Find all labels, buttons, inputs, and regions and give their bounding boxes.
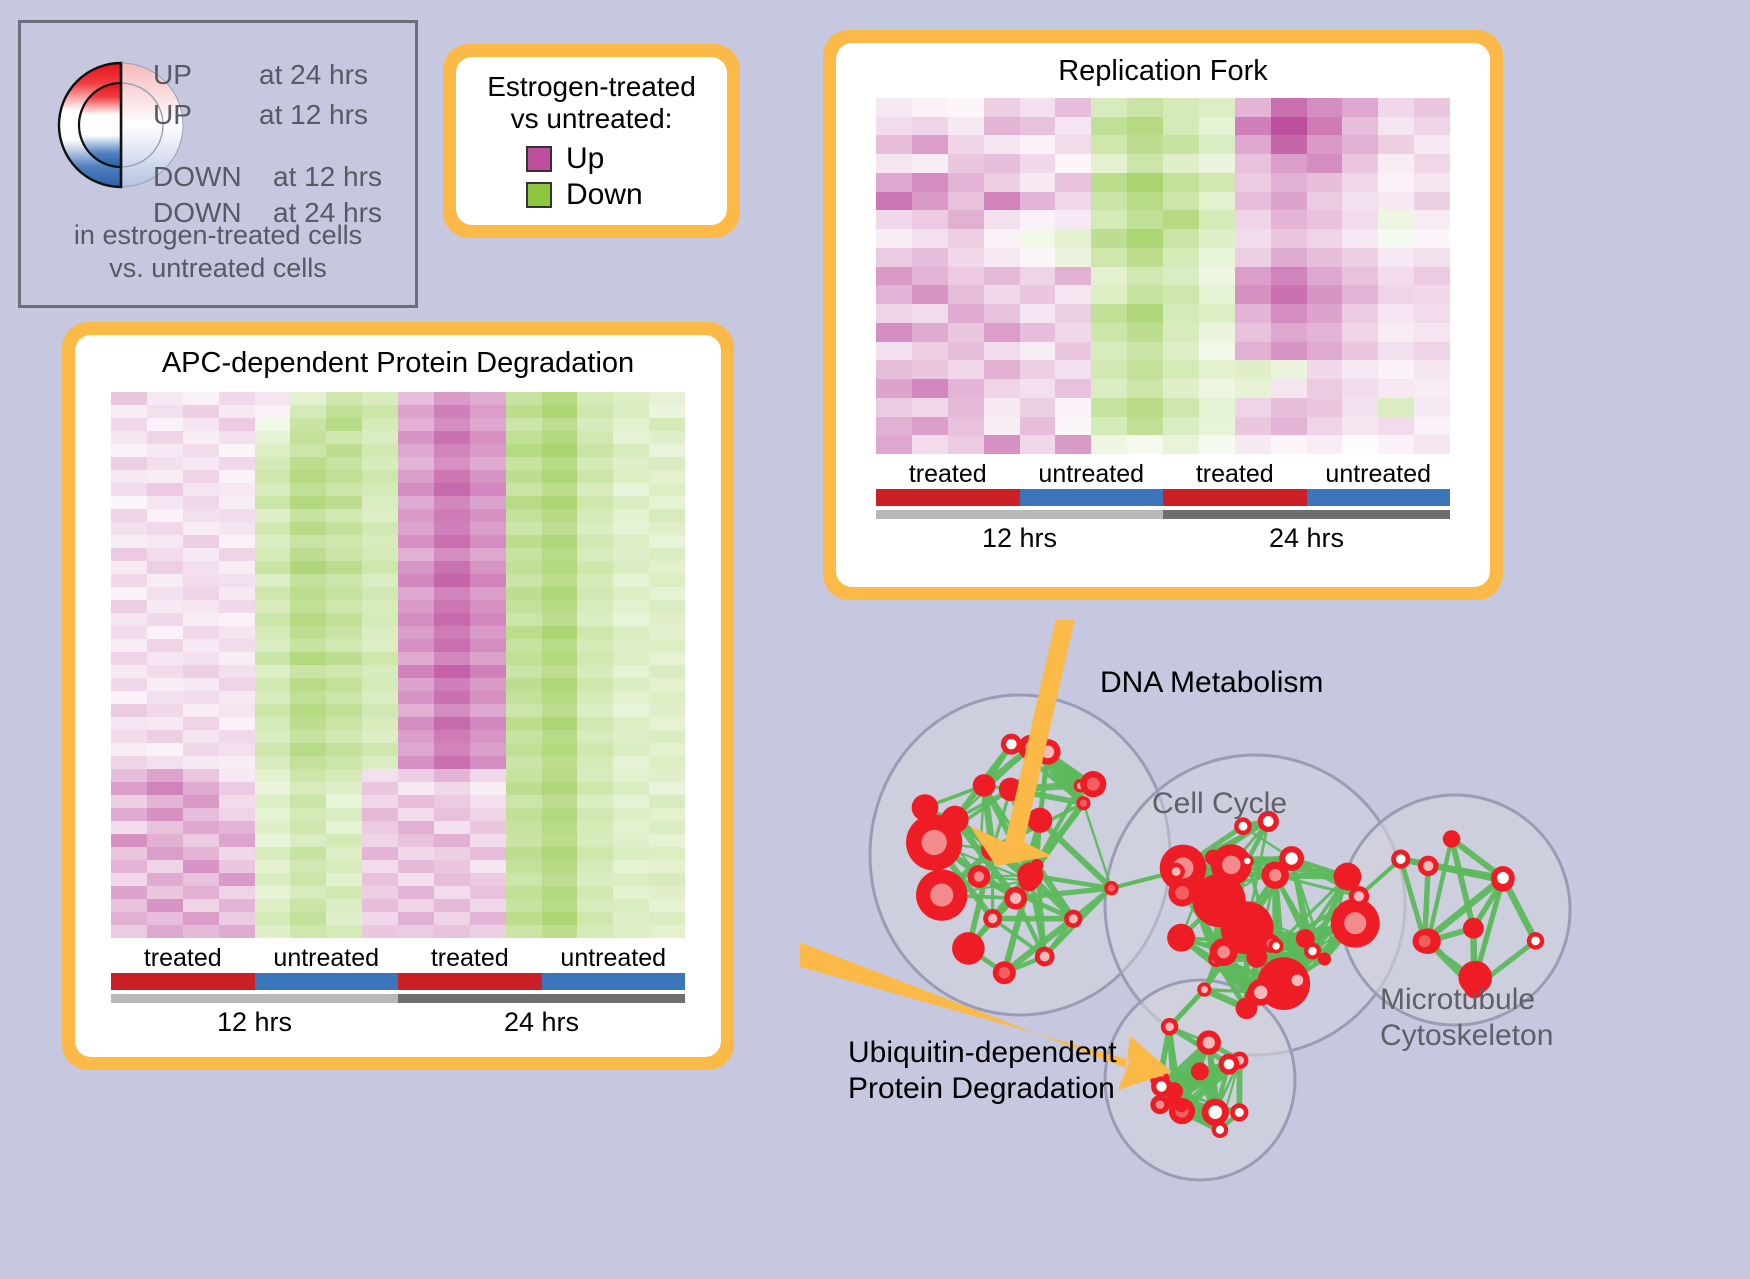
network-node-core — [1175, 886, 1189, 900]
heatmap-cell — [1055, 360, 1091, 379]
heatmap-cell — [398, 743, 434, 756]
heatmap-cell — [613, 405, 649, 418]
heatmap-cell — [1127, 417, 1163, 436]
heatmap-cell — [183, 652, 219, 665]
heatmap-cell — [1271, 248, 1307, 267]
heatmap-cell — [398, 691, 434, 704]
heatmap-cell — [984, 435, 1020, 454]
heatmap-cell — [1378, 285, 1414, 304]
heatmap-cell — [1199, 323, 1235, 342]
network-node — [1031, 859, 1044, 872]
heatmap-cell — [649, 405, 685, 418]
heatmap-cell — [1235, 154, 1271, 173]
heatmap-cell — [147, 665, 183, 678]
heatmap-cell — [290, 821, 326, 834]
heatmap-cell — [470, 691, 506, 704]
heatmap-cell — [219, 418, 255, 431]
heatmap-cell — [984, 210, 1020, 229]
heatmap-cell — [1307, 248, 1343, 267]
heatmap-cell — [577, 704, 613, 717]
heatmap-cell — [255, 600, 291, 613]
heatmap-cell — [326, 665, 362, 678]
heatmap-cell — [1091, 417, 1127, 436]
heatmap-cell — [649, 925, 685, 938]
heatmap-cell — [984, 98, 1020, 117]
network-node-core — [1308, 947, 1317, 956]
heatmap-cell — [1307, 98, 1343, 117]
heatmap-cell — [542, 925, 578, 938]
heatmap-cell — [470, 795, 506, 808]
panel-apc-degradation: APC-dependent Protein Degradation treate… — [62, 322, 734, 1070]
heatmap-cell — [111, 795, 147, 808]
heatmap-cell — [219, 886, 255, 899]
heatmap-cell — [506, 431, 542, 444]
heatmap-cell — [1091, 360, 1127, 379]
heatmap-cell — [398, 821, 434, 834]
heatmap-cell — [649, 418, 685, 431]
time-color-bar-rf — [876, 510, 1450, 519]
heatmap-cell — [876, 285, 912, 304]
heatmap-cell — [506, 639, 542, 652]
wheel-legend-footer: in estrogen-treated cells vs. untreated … — [21, 219, 415, 285]
heatmap-cell — [1235, 285, 1271, 304]
heatmap-cell — [111, 782, 147, 795]
updown-title-line-1: Estrogen-treated — [472, 71, 711, 103]
heatmap-cell — [470, 535, 506, 548]
heatmap-cell — [1378, 342, 1414, 361]
heatmap-cell — [613, 444, 649, 457]
heatmap-cell — [876, 267, 912, 286]
heatmap-cell — [147, 782, 183, 795]
sample-color-bar-rf — [876, 489, 1450, 506]
heatmap-cell — [290, 522, 326, 535]
heatmap-cell — [434, 639, 470, 652]
heatmap-cell — [649, 873, 685, 886]
heatmap-cell — [1414, 173, 1450, 192]
panel-title-apc: APC-dependent Protein Degradation — [111, 347, 685, 380]
heatmap-cell — [948, 342, 984, 361]
heatmap-cell — [290, 418, 326, 431]
heatmap-cell — [649, 600, 685, 613]
heatmap-cell — [398, 834, 434, 847]
heatmap-cell — [1055, 154, 1091, 173]
heatmap-cell — [147, 912, 183, 925]
heatmap-cell — [398, 678, 434, 691]
heatmap-cell — [434, 548, 470, 561]
heatmap-cell — [506, 509, 542, 522]
heatmap-cell — [111, 405, 147, 418]
heatmap-cell — [1378, 192, 1414, 211]
heatmap-cell — [183, 873, 219, 886]
heatmap-cell — [649, 496, 685, 509]
heatmap-cell — [876, 248, 912, 267]
heatmap-cell — [1020, 398, 1056, 417]
heatmap-cell — [1378, 154, 1414, 173]
heatmap-cell — [326, 587, 362, 600]
heatmap-cell — [434, 743, 470, 756]
heatmap-cell — [613, 587, 649, 600]
heatmap-cell — [111, 652, 147, 665]
wheel-tag-up-12: UP — [153, 99, 192, 131]
heatmap-cell — [1307, 417, 1343, 436]
heatmap-cell — [434, 782, 470, 795]
heatmap-cell — [147, 717, 183, 730]
heatmap-cell — [1163, 117, 1199, 136]
heatmap-cell — [1378, 379, 1414, 398]
network-node-core — [922, 830, 947, 855]
heatmap-cell — [876, 360, 912, 379]
heatmap-cell — [649, 912, 685, 925]
heatmap-cell — [1127, 360, 1163, 379]
heatmap-cell — [506, 561, 542, 574]
sample-bar-segment — [255, 973, 399, 990]
heatmap-cell — [290, 795, 326, 808]
heatmap-cell — [255, 743, 291, 756]
heatmap-cell — [577, 665, 613, 678]
heatmap-cell — [183, 847, 219, 860]
heatmap-cell — [434, 418, 470, 431]
heatmap-cell — [326, 574, 362, 587]
network-node — [1443, 830, 1460, 847]
heatmap-cell — [183, 444, 219, 457]
heatmap-cell — [255, 587, 291, 600]
heatmap-cell — [984, 323, 1020, 342]
sample-color-bar-apc — [111, 973, 685, 990]
heatmap-cell — [1127, 117, 1163, 136]
heatmap-cell — [1199, 267, 1235, 286]
heatmap-cell — [111, 639, 147, 652]
heatmap-cell — [984, 192, 1020, 211]
heatmap-cell — [1163, 154, 1199, 173]
heatmap-cell — [470, 756, 506, 769]
heatmap-cell — [542, 665, 578, 678]
network-node — [912, 794, 939, 821]
cluster-label-ubiquitin: Ubiquitin-dependent Protein Degradation — [848, 1035, 1117, 1107]
sample-bar-segment — [111, 973, 255, 990]
heatmap-cell — [470, 769, 506, 782]
network-node-core — [1156, 1100, 1165, 1109]
heatmap-cell — [1020, 267, 1056, 286]
heatmap-cell — [876, 379, 912, 398]
heatmap-cell — [111, 431, 147, 444]
heatmap-cell — [398, 795, 434, 808]
heatmap-cell — [613, 795, 649, 808]
heatmap-cell — [948, 398, 984, 417]
heatmap-cell — [362, 834, 398, 847]
heatmap-cell — [1163, 304, 1199, 323]
heatmap-cell — [398, 912, 434, 925]
heatmap-cell — [1342, 417, 1378, 436]
heatmap-cell — [1127, 398, 1163, 417]
heatmap-cell — [1091, 285, 1127, 304]
heatmap-cell — [219, 613, 255, 626]
network-node-core — [1224, 1059, 1234, 1069]
heatmap-cell — [1378, 323, 1414, 342]
heatmap-cell — [219, 847, 255, 860]
heatmap-cell — [255, 717, 291, 730]
heatmap-cell — [876, 173, 912, 192]
heatmap-cell — [219, 717, 255, 730]
heatmap-cell — [577, 769, 613, 782]
heatmap-cell — [948, 323, 984, 342]
heatmap-cell — [362, 782, 398, 795]
wheel-text-up-24: at 24 hrs — [259, 59, 368, 91]
heatmap-cell — [183, 626, 219, 639]
heatmap-cell — [1342, 285, 1378, 304]
heatmap-cell — [1378, 417, 1414, 436]
heatmap-cell — [183, 418, 219, 431]
heatmap-cell — [219, 821, 255, 834]
heatmap-cell — [1199, 192, 1235, 211]
heatmap-cell — [398, 808, 434, 821]
heatmap-cell — [506, 652, 542, 665]
heatmap-cell — [255, 808, 291, 821]
heatmap-cell — [613, 496, 649, 509]
heatmap-cell — [434, 574, 470, 587]
heatmap-cell — [290, 587, 326, 600]
heatmap-cell — [470, 860, 506, 873]
heatmap-cell — [506, 457, 542, 470]
heatmap-cell — [111, 509, 147, 522]
heatmap-cell — [398, 886, 434, 899]
heatmap-cell — [542, 522, 578, 535]
network-node-core — [999, 967, 1011, 979]
heatmap-cell — [255, 860, 291, 873]
heatmap-cell — [147, 808, 183, 821]
heatmap-cell — [290, 743, 326, 756]
heatmap-cell — [1091, 342, 1127, 361]
heatmap-cell — [255, 678, 291, 691]
network-node-core — [988, 914, 997, 923]
heatmap-cell — [506, 821, 542, 834]
heatmap-cell — [290, 860, 326, 873]
heatmap-cell — [290, 457, 326, 470]
heatmap-cell — [1235, 192, 1271, 211]
heatmap-cell — [398, 717, 434, 730]
heatmap-cell — [912, 192, 948, 211]
heatmap-cell — [542, 457, 578, 470]
heatmap-cell — [147, 743, 183, 756]
heatmap-cell — [1414, 117, 1450, 136]
sample-label-rf-2: treated — [1163, 460, 1307, 489]
heatmap-cell — [398, 405, 434, 418]
heatmap-cell — [398, 899, 434, 912]
heatmap-cell — [1307, 267, 1343, 286]
heatmap-cell — [255, 730, 291, 743]
heatmap-cell — [290, 925, 326, 938]
heatmap-cell — [326, 626, 362, 639]
heatmap-cell — [183, 496, 219, 509]
heatmap-cell — [613, 522, 649, 535]
heatmap-cell — [506, 899, 542, 912]
heatmap-cell — [470, 899, 506, 912]
heatmap-cell — [1055, 379, 1091, 398]
heatmap-cell — [290, 535, 326, 548]
heatmap-cell — [362, 808, 398, 821]
heatmap-cell — [290, 574, 326, 587]
heatmap-cell — [613, 613, 649, 626]
heatmap-cell — [1055, 342, 1091, 361]
network-node — [1246, 947, 1267, 968]
heatmap-cell — [1199, 173, 1235, 192]
ubiquitin-line-1: Ubiquitin-dependent — [848, 1035, 1117, 1071]
heatmap-cell — [470, 431, 506, 444]
heatmap-cell — [912, 323, 948, 342]
heatmap-cell — [219, 431, 255, 444]
heatmap-cell — [649, 730, 685, 743]
heatmap-cell — [876, 98, 912, 117]
heatmap-cell — [506, 886, 542, 899]
heatmap-cell — [1020, 360, 1056, 379]
heatmap-cell — [649, 457, 685, 470]
heatmap-cell — [255, 548, 291, 561]
heatmap-cell — [398, 574, 434, 587]
sample-label-rf-3: untreated — [1307, 460, 1451, 489]
heatmap-cell — [219, 574, 255, 587]
heatmap-cell — [470, 743, 506, 756]
heatmap-cell — [183, 743, 219, 756]
time-color-bar-apc — [111, 994, 685, 1003]
heatmap-cell — [111, 587, 147, 600]
heatmap-cell — [326, 730, 362, 743]
heatmap-cell — [1127, 267, 1163, 286]
heatmap-cell — [613, 821, 649, 834]
heatmap-cell — [1127, 435, 1163, 454]
heatmap-cell — [1020, 210, 1056, 229]
heatmap-cell — [912, 417, 948, 436]
sample-bar-segment — [398, 973, 542, 990]
network-node-core — [1269, 869, 1281, 881]
heatmap-cell — [183, 769, 219, 782]
heatmap-cell — [147, 847, 183, 860]
heatmap-cell — [111, 899, 147, 912]
heatmap-cell — [183, 730, 219, 743]
heatmap-cell — [362, 704, 398, 717]
heatmap-cell — [398, 418, 434, 431]
heatmap-cell — [362, 600, 398, 613]
heatmap-cell — [147, 704, 183, 717]
network-node-core — [1080, 800, 1087, 807]
heatmap-cell — [398, 392, 434, 405]
heatmap-cell — [1091, 117, 1127, 136]
heatmap-cell — [1091, 192, 1127, 211]
heatmap-cell — [398, 561, 434, 574]
heatmap-cell — [111, 535, 147, 548]
heatmap-cell — [577, 821, 613, 834]
heatmap-cell — [255, 886, 291, 899]
heatmap-cell — [1378, 210, 1414, 229]
legend-label-down: Down — [566, 178, 643, 212]
sample-label-rf-1: untreated — [1020, 460, 1164, 489]
heatmap-replication-fork — [876, 98, 1450, 454]
heatmap-cell — [219, 756, 255, 769]
heatmap-cell — [434, 561, 470, 574]
heatmap-cell — [948, 285, 984, 304]
heatmap-cell — [183, 704, 219, 717]
heatmap-cell — [183, 574, 219, 587]
heatmap-cell — [876, 435, 912, 454]
heatmap-cell — [876, 154, 912, 173]
heatmap-cell — [434, 834, 470, 847]
heatmap-cell — [1091, 379, 1127, 398]
heatmap-cell — [183, 431, 219, 444]
heatmap-cell — [506, 418, 542, 431]
heatmap-cell — [542, 808, 578, 821]
heatmap-cell — [1127, 229, 1163, 248]
heatmap-cell — [506, 483, 542, 496]
heatmap-cell — [183, 405, 219, 418]
heatmap-cell — [1055, 117, 1091, 136]
heatmap-cell — [1163, 229, 1199, 248]
heatmap-cell — [326, 834, 362, 847]
heatmap-cell — [1235, 398, 1271, 417]
heatmap-cell — [577, 626, 613, 639]
heatmap-cell — [1163, 267, 1199, 286]
heatmap-cell — [948, 248, 984, 267]
heatmap-cell — [506, 730, 542, 743]
sample-label-rf-0: treated — [876, 460, 1020, 489]
heatmap-cell — [219, 405, 255, 418]
heatmap-cell — [876, 323, 912, 342]
heatmap-cell — [398, 730, 434, 743]
heatmap-cell — [542, 886, 578, 899]
sample-labels-apc: treated untreated treated untreated — [111, 944, 685, 973]
heatmap-cell — [290, 886, 326, 899]
heatmap-cell — [111, 626, 147, 639]
ubiquitin-line-2: Protein Degradation — [848, 1071, 1117, 1107]
heatmap-cell — [542, 704, 578, 717]
heatmap-cell — [255, 405, 291, 418]
heatmap-cell — [470, 652, 506, 665]
heatmap-cell — [147, 639, 183, 652]
heatmap-cell — [290, 626, 326, 639]
heatmap-cell — [1342, 360, 1378, 379]
heatmap-cell — [290, 470, 326, 483]
heatmap-cell — [1091, 398, 1127, 417]
heatmap-cell — [542, 678, 578, 691]
heatmap-cell — [470, 704, 506, 717]
heatmap-cell — [290, 548, 326, 561]
heatmap-cell — [1378, 248, 1414, 267]
heatmap-cell — [290, 691, 326, 704]
heatmap-cell — [398, 626, 434, 639]
heatmap-cell — [1378, 267, 1414, 286]
heatmap-cell — [255, 899, 291, 912]
heatmap-cell — [362, 483, 398, 496]
heatmap-cell — [326, 821, 362, 834]
heatmap-cell — [542, 509, 578, 522]
heatmap-cell — [1163, 98, 1199, 117]
heatmap-cell — [1163, 360, 1199, 379]
sample-label-apc-1: untreated — [255, 944, 399, 973]
heatmap-cell — [506, 678, 542, 691]
heatmap-cell — [111, 522, 147, 535]
heatmap-cell — [1127, 135, 1163, 154]
heatmap-cell — [1271, 417, 1307, 436]
heatmap-cell — [111, 769, 147, 782]
heatmap-cell — [290, 834, 326, 847]
heatmap-cell — [147, 834, 183, 847]
network-node-core — [1165, 1022, 1174, 1031]
heatmap-cell — [362, 886, 398, 899]
time-bar-segment — [111, 994, 398, 1003]
heatmap-cell — [326, 418, 362, 431]
heatmap-cell — [1199, 229, 1235, 248]
heatmap-cell — [1127, 379, 1163, 398]
heatmap-cell — [1163, 342, 1199, 361]
heatmap-cell — [876, 210, 912, 229]
heatmap-cell — [434, 925, 470, 938]
